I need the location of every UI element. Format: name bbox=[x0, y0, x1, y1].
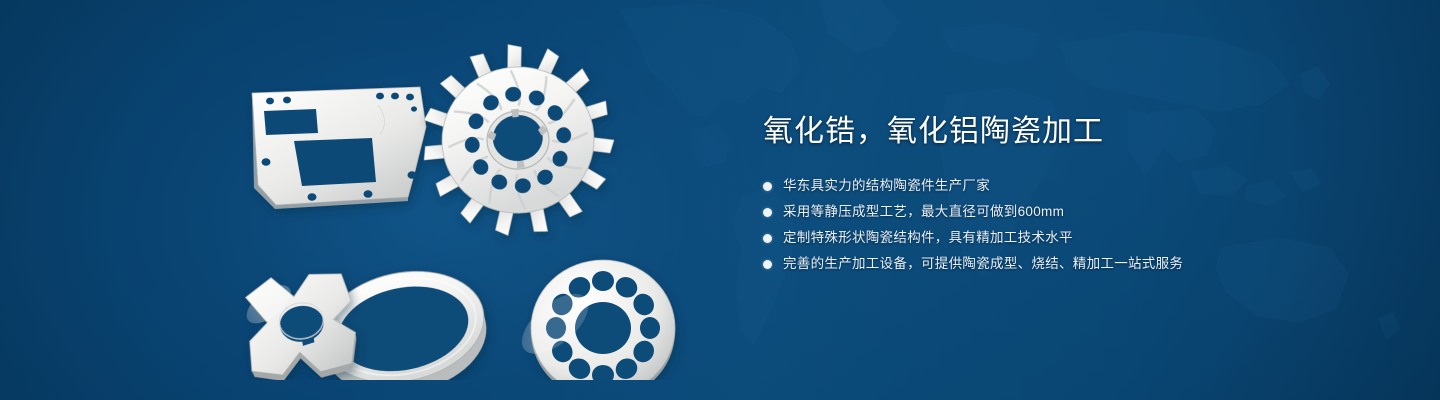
feature-text: 定制特殊形状陶瓷结构件，具有精加工技术水平 bbox=[783, 228, 1073, 248]
list-item: 采用等静压成型工艺，最大直径可做到600mm bbox=[763, 200, 1383, 224]
ceramic-perforated-disc bbox=[512, 260, 675, 380]
feature-list: 华东具实力的结构陶瓷件生产厂家 采用等静压成型工艺，最大直径可做到600mm 定… bbox=[763, 174, 1383, 276]
feature-text: 华东具实力的结构陶瓷件生产厂家 bbox=[783, 176, 990, 196]
list-item: 华东具实力的结构陶瓷件生产厂家 bbox=[763, 174, 1383, 198]
bullet-dot-icon bbox=[763, 234, 772, 243]
page-title: 氧化锆，氧化铝陶瓷加工 bbox=[763, 112, 1383, 152]
ceramic-products-image bbox=[230, 35, 730, 380]
feature-text: 采用等静压成型工艺，最大直径可做到600mm bbox=[783, 202, 1064, 222]
feature-text: 完善的生产加工设备，可提供陶瓷成型、烧结、精加工一站式服务 bbox=[783, 254, 1183, 274]
ceramic-mounting-plate bbox=[252, 87, 426, 209]
list-item: 完善的生产加工设备，可提供陶瓷成型、烧结、精加工一站式服务 bbox=[763, 252, 1383, 276]
bullet-dot-icon bbox=[763, 208, 772, 217]
bullet-dot-icon bbox=[763, 182, 772, 191]
promo-banner: 氧化锆，氧化铝陶瓷加工 华东具实力的结构陶瓷件生产厂家 采用等静压成型工艺，最大… bbox=[0, 0, 1440, 400]
ceramic-bladed-impeller bbox=[412, 35, 624, 246]
banner-copy: 氧化锆，氧化铝陶瓷加工 华东具实力的结构陶瓷件生产厂家 采用等静压成型工艺，最大… bbox=[763, 112, 1383, 278]
list-item: 定制特殊形状陶瓷结构件，具有精加工技术水平 bbox=[763, 226, 1383, 250]
bullet-dot-icon bbox=[763, 260, 772, 269]
